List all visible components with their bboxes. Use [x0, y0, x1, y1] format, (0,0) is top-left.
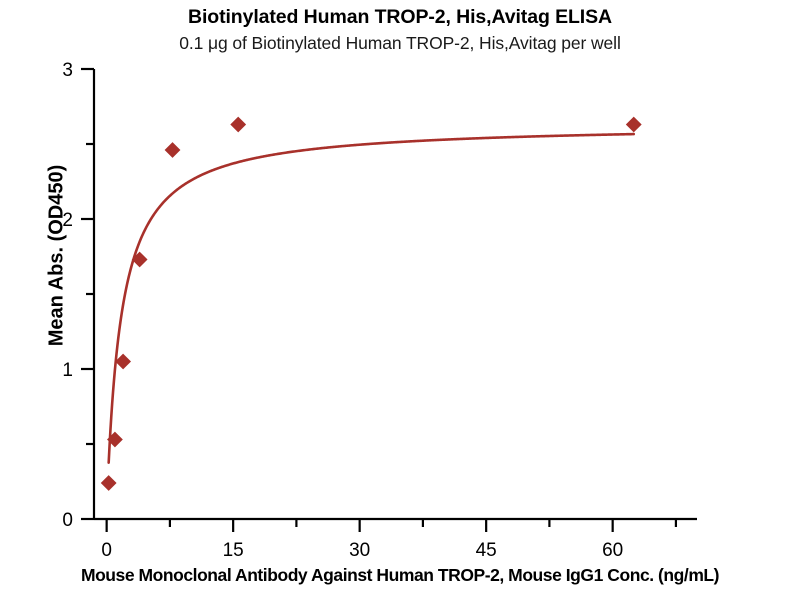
x-axis-ticks: 015304560 — [101, 519, 676, 561]
y-tick-label: 1 — [62, 360, 73, 381]
data-point-marker — [231, 117, 245, 131]
y-tick-label: 2 — [62, 210, 73, 231]
x-tick-label: 45 — [476, 540, 497, 561]
data-markers — [101, 117, 640, 490]
axis-lines — [94, 69, 697, 519]
elisa-chart-figure: Biotinylated Human TROP-2, His,Avitag EL… — [0, 0, 800, 600]
x-tick-label: 0 — [101, 540, 112, 561]
y-tick-label: 0 — [62, 510, 73, 531]
x-tick-label: 30 — [349, 540, 370, 561]
data-point-marker — [101, 476, 115, 490]
data-point-marker — [627, 117, 641, 131]
y-axis-ticks: 0123 — [62, 60, 94, 531]
x-tick-label: 15 — [223, 540, 244, 561]
data-point-marker — [165, 143, 179, 157]
y-tick-label: 3 — [62, 60, 73, 81]
data-point-marker — [116, 354, 130, 368]
fit-curve — [109, 134, 634, 463]
plot-area: 015304560 0123 — [0, 0, 800, 600]
x-tick-label: 60 — [602, 540, 623, 561]
